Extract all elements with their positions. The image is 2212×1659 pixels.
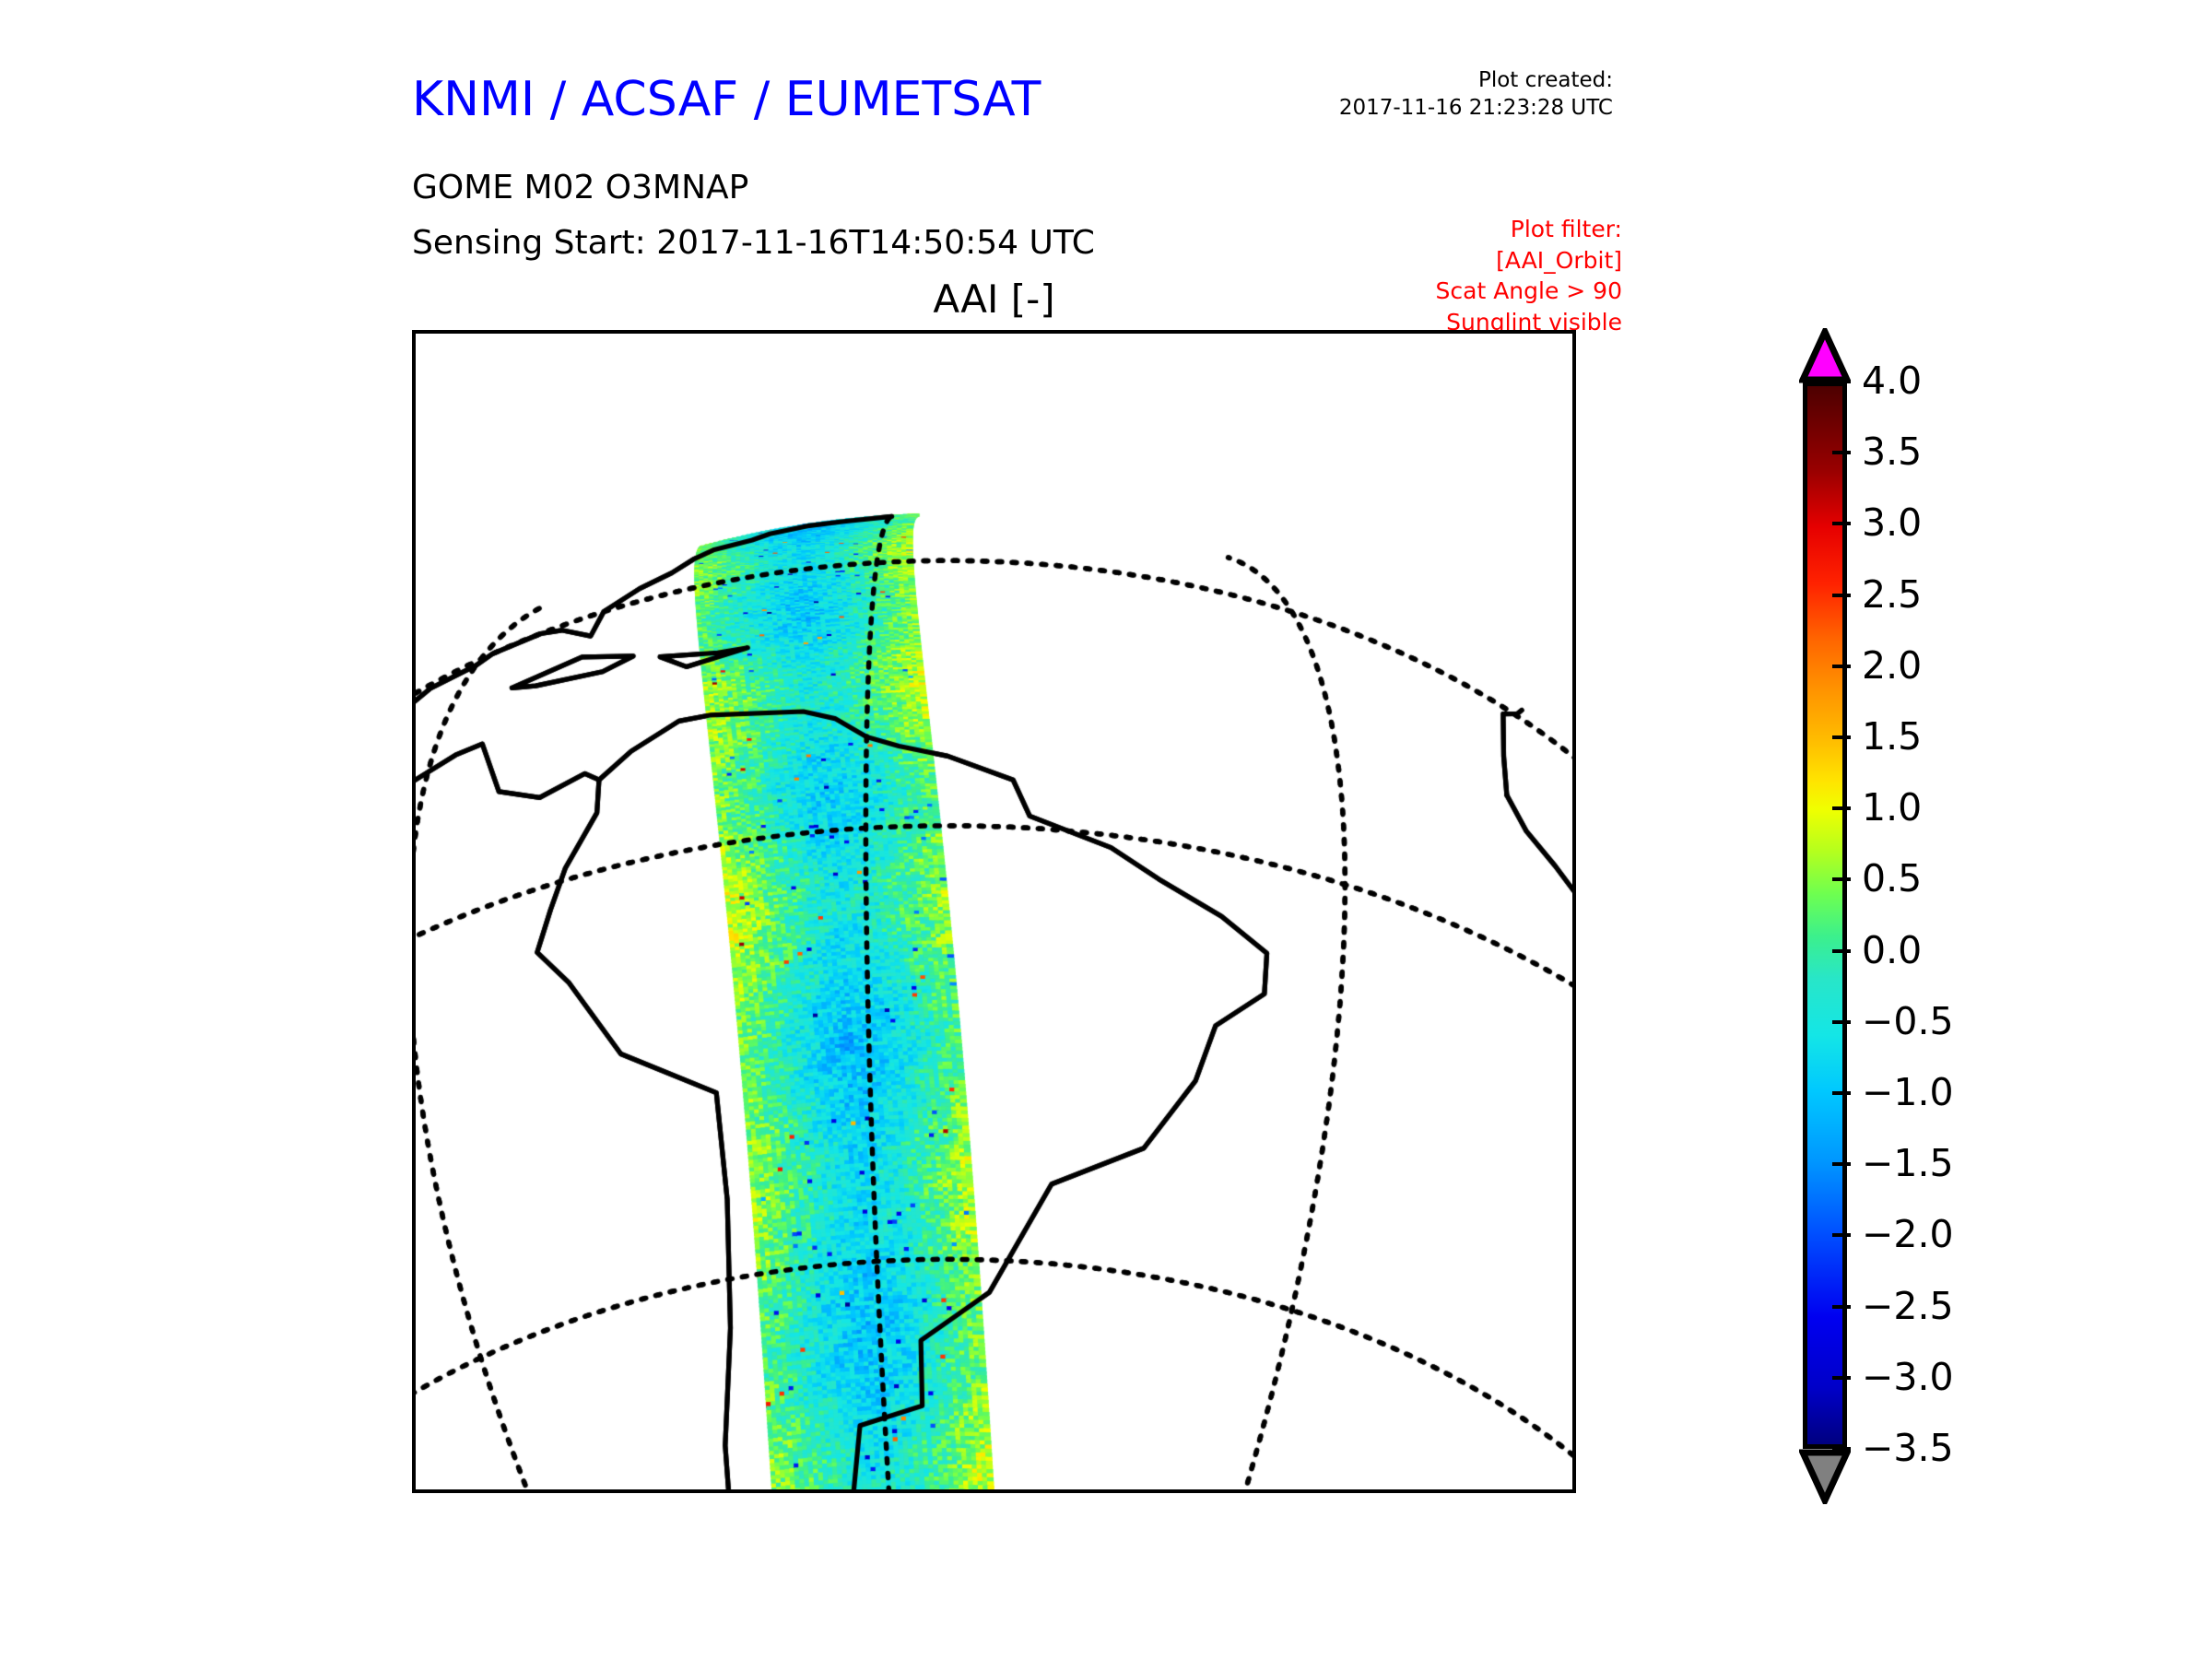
colorbar-tick (1832, 735, 1851, 739)
colorbar-tick (1832, 1162, 1851, 1166)
colorbar-tick-label: −1.0 (1862, 1074, 1954, 1112)
plot-created-label: Plot created: (1226, 66, 1613, 94)
colorbar-tick (1832, 380, 1851, 383)
colorbar-tick (1832, 1305, 1851, 1309)
colorbar-tick-label: 0.0 (1862, 932, 1922, 970)
colorbar-tick-label: −2.0 (1862, 1216, 1954, 1253)
colorbar-tick-label: 4.0 (1862, 362, 1922, 400)
colorbar-tick (1832, 877, 1851, 881)
colorbar-tick (1832, 1233, 1851, 1237)
colorbar-tick (1832, 806, 1851, 810)
plot-filter-line-1: [AAI_Orbit] (1235, 245, 1622, 276)
product-name: GOME M02 O3MNAP (412, 169, 748, 206)
plot-created-block: Plot created: 2017-11-16 21:23:28 UTC (1226, 66, 1613, 123)
colorbar-tick-label: 2.5 (1862, 576, 1922, 614)
map-plot-area (412, 330, 1576, 1493)
plot-created-timestamp: 2017-11-16 21:23:28 UTC (1226, 94, 1613, 122)
colorbar-tick (1832, 1447, 1851, 1451)
map-canvas (416, 334, 1572, 1489)
colorbar-tick-label: 0.5 (1862, 860, 1922, 898)
colorbar-tick-label: −2.5 (1862, 1288, 1954, 1325)
colorbar-tick-label: −0.5 (1862, 1003, 1954, 1041)
colorbar-tick (1832, 594, 1851, 597)
sensing-start: Sensing Start: 2017-11-16T14:50:54 UTC (412, 224, 1095, 262)
colorbar-tick (1832, 1376, 1851, 1380)
colorbar-tick (1832, 665, 1851, 668)
colorbar-tick-label: −3.0 (1862, 1359, 1954, 1396)
colorbar-tick (1832, 522, 1851, 525)
colorbar-tick-label: −1.5 (1862, 1145, 1954, 1182)
plot-filter-title: Plot filter: (1235, 214, 1622, 245)
colorbar-tick (1832, 1020, 1851, 1024)
colorbar-tick-label: 1.0 (1862, 789, 1922, 827)
colorbar-tick-label: 1.5 (1862, 718, 1922, 756)
colorbar-tick (1832, 451, 1851, 454)
colorbar-tick-label: −3.5 (1862, 1430, 1954, 1467)
axes-title: AAI [-] (412, 276, 1576, 322)
colorbar-tick-label: 2.0 (1862, 647, 1922, 685)
colorbar-tick-group: 4.03.53.02.52.01.51.00.50.0−0.5−1.0−1.5−… (1799, 328, 2076, 1517)
page-title: KNMI / ACSAF / EUMETSAT (412, 72, 1057, 127)
colorbar-tick (1832, 1091, 1851, 1095)
colorbar: 4.03.53.02.52.01.51.00.50.0−0.5−1.0−1.5−… (1799, 328, 2076, 1517)
colorbar-tick-label: 3.0 (1862, 504, 1922, 542)
colorbar-tick (1832, 949, 1851, 953)
colorbar-tick-label: 3.5 (1862, 433, 1922, 471)
